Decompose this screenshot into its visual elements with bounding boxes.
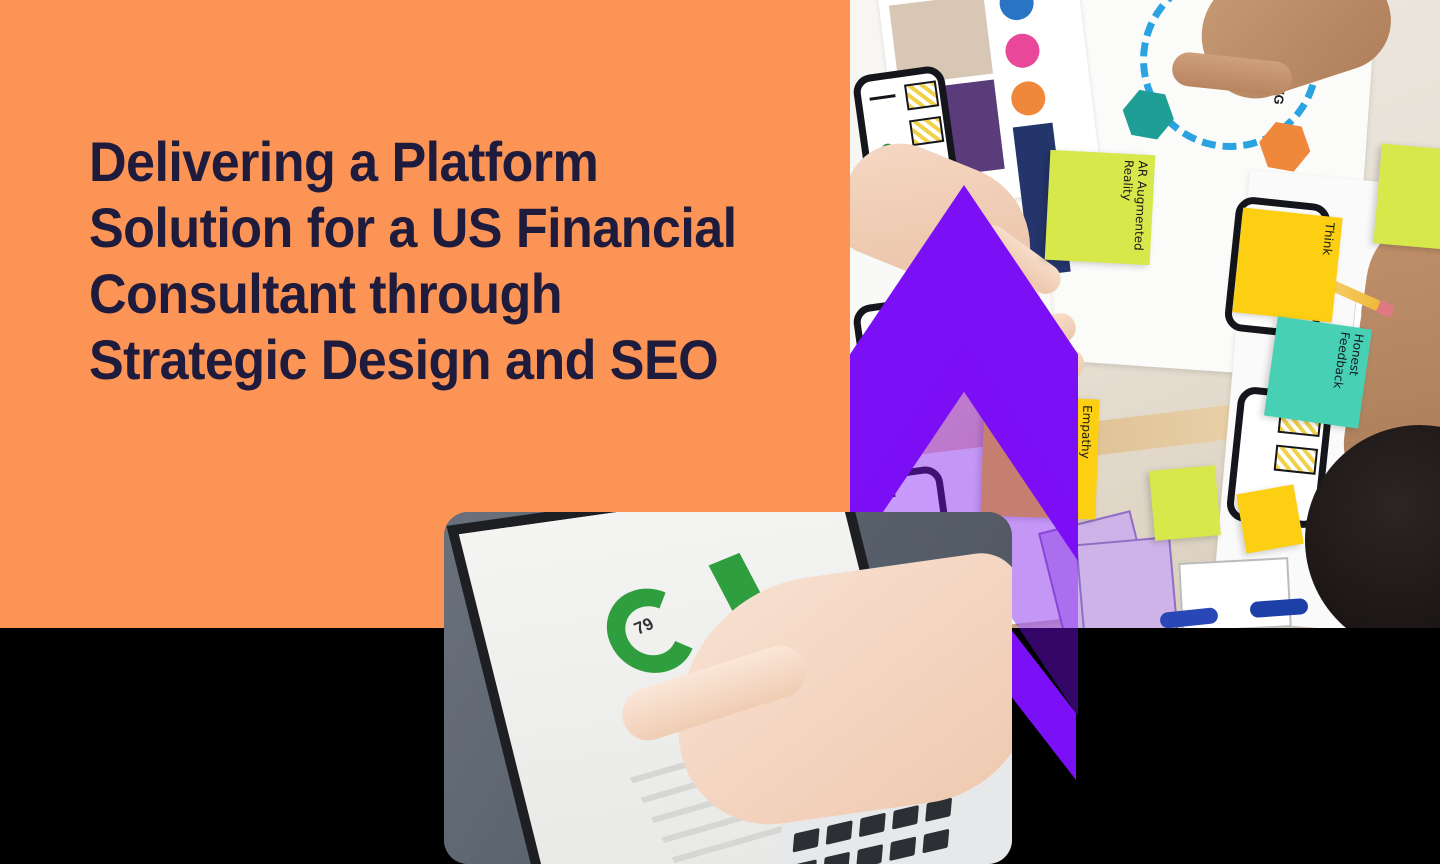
sticky-note-ar: AR Augmented Reality — [1045, 150, 1156, 265]
laptop-photo: 79 — [444, 512, 1012, 864]
sticky-note-honest-feedback: Honest Feedback — [1264, 316, 1372, 428]
hero-banner: Delivering a Platform Solution for a US … — [0, 0, 1440, 864]
color-dot — [998, 0, 1036, 22]
color-dot — [1009, 79, 1047, 117]
color-dot — [1004, 32, 1042, 70]
sticky-note-think: Think — [1232, 208, 1342, 323]
sticky-note — [1236, 484, 1304, 553]
sticky-note-q: Q — [1373, 144, 1440, 252]
page-title: Delivering a Platform Solution for a US … — [89, 129, 768, 393]
sticky-note — [1149, 465, 1221, 540]
